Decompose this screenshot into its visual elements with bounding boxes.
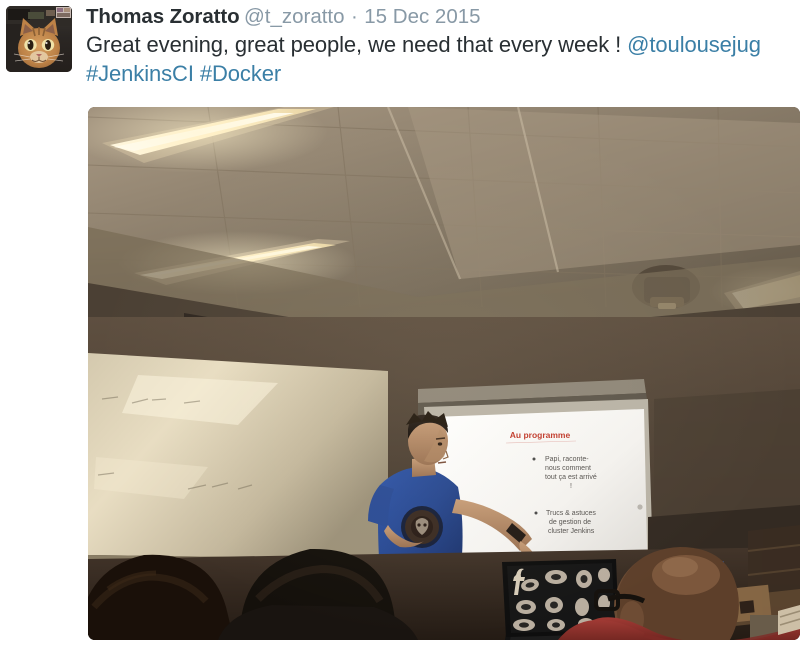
header-separator: ·: [349, 5, 360, 28]
tweet-card: Thomas Zoratto @t_zoratto · 15 Dec 2015 …: [0, 0, 812, 658]
mention-toulousejug[interactable]: @toulousejug: [627, 32, 761, 57]
avatar[interactable]: [6, 6, 72, 72]
hashtag-docker[interactable]: #Docker: [200, 61, 281, 86]
tweet-text-part1: Great evening, great people, we need tha…: [86, 32, 627, 57]
tweet-text: Great evening, great people, we need tha…: [86, 30, 802, 88]
tweet-date[interactable]: 15 Dec 2015: [364, 5, 480, 28]
tweet-photo[interactable]: Au programme Papi, raconte- nous comment…: [88, 107, 800, 640]
tweet-header: Thomas Zoratto @t_zoratto · 15 Dec 2015: [86, 3, 806, 31]
avatar-cat-image: [6, 6, 72, 72]
classroom-presentation-photo: Au programme Papi, raconte- nous comment…: [88, 107, 800, 640]
hashtag-jenkinsci[interactable]: #JenkinsCI: [86, 61, 194, 86]
author-handle[interactable]: @t_zoratto: [244, 5, 345, 28]
author-fullname[interactable]: Thomas Zoratto: [86, 5, 240, 28]
